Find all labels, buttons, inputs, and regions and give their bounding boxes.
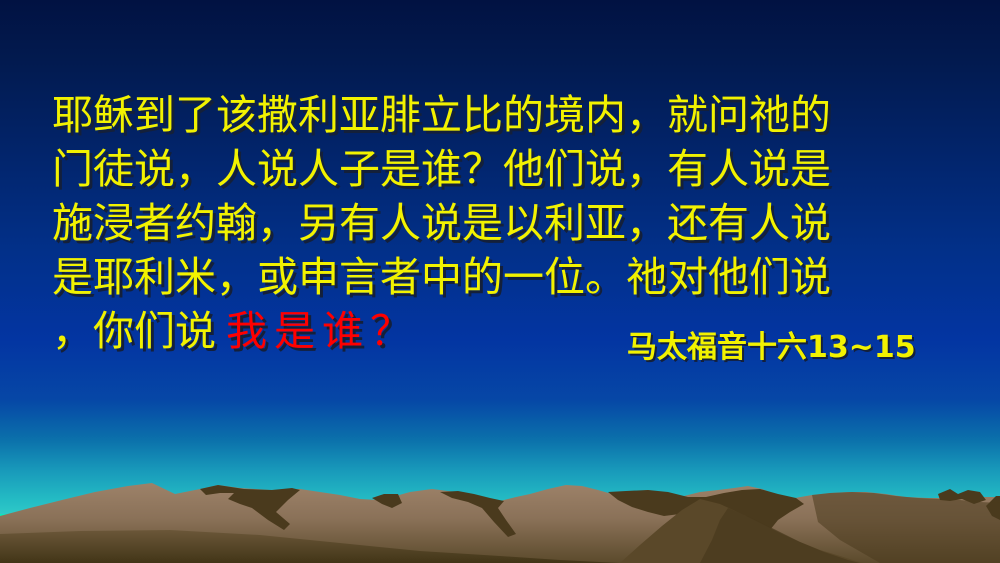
- verse-line-3: 施浸者约翰，另有人说是以利亚，还有人说: [52, 196, 952, 250]
- presentation-slide: 耶稣到了该撒利亚腓立比的境内，就问祂的 门徒说，人说人子是谁？他们说，有人说是 …: [0, 0, 1000, 563]
- scripture-reference: 马太福音十六13~15: [627, 322, 916, 366]
- verse-line-2: 门徒说，人说人子是谁？他们说，有人说是: [52, 142, 952, 196]
- verse-emphasis-text: 我是谁？: [226, 307, 418, 355]
- verse-line-4: 是耶利米，或申言者中的一位。祂对他们说: [52, 250, 952, 304]
- verse-line-5-lead: ，你们说: [52, 304, 216, 358]
- verse-line-1: 耶稣到了该撒利亚腓立比的境内，就问祂的: [52, 88, 952, 142]
- verse-text-block: 耶稣到了该撒利亚腓立比的境内，就问祂的 门徒说，人说人子是谁？他们说，有人说是 …: [52, 88, 952, 358]
